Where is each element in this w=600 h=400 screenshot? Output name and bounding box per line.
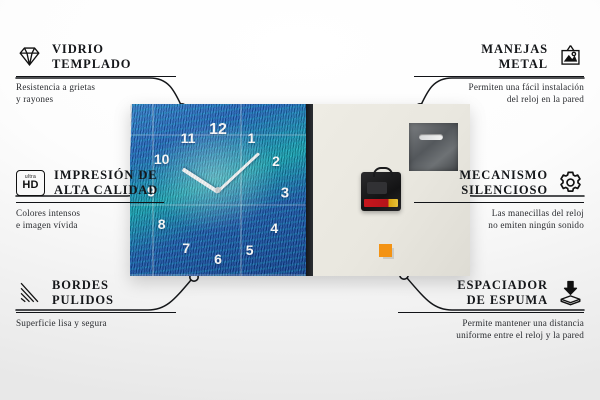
callout-mecanismo-silencioso: MECANISMO SILENCIOSO Las manecillas del … [414, 168, 584, 232]
callout-header: MANEJAS METAL [414, 42, 584, 72]
callout-header: VIDRIO TEMPLADO [16, 42, 176, 72]
clock-numeral-3: 3 [281, 186, 289, 201]
diamond-icon [16, 43, 43, 70]
callout-subtitle-line2: del reloj en la pared [414, 93, 584, 105]
callout-subtitle-line1: Permite mantener una distancia [398, 317, 584, 329]
polished-edge-icon [16, 279, 43, 306]
clock-mechanism [361, 172, 401, 211]
callout-subtitle-line1: Las manecillas del reloj [414, 207, 584, 219]
callout-title: MANEJAS METAL [481, 42, 548, 72]
second-hand [130, 104, 132, 162]
minute-hand [217, 152, 260, 192]
clock-numeral-1: 1 [248, 131, 256, 145]
foam-spacer-icon [557, 279, 584, 306]
callout-subtitle-line1: Permiten una fácil instalación [414, 81, 584, 93]
foam-spacer [379, 244, 392, 257]
callout-title: IMPRESIÓN DE ALTA CALIDAD [54, 168, 158, 198]
ultra-hd-icon: ultra HD [16, 170, 45, 196]
clock-numeral-12: 12 [209, 122, 227, 138]
callout-divider [16, 312, 176, 314]
callout-divider [414, 76, 584, 78]
callout-title: BORDES PULIDOS [52, 278, 114, 308]
ultra-hd-icon-big-text: HD [22, 180, 38, 191]
clock-numeral-11: 11 [181, 131, 196, 145]
callout-header: ESPACIADOR DE ESPUMA [398, 278, 584, 308]
clock-numeral-7: 7 [182, 241, 190, 255]
callout-subtitle-line1: Resistencia a grietas [16, 81, 176, 93]
clock-numeral-4: 4 [270, 221, 278, 235]
mechanism-hanger-loop [373, 167, 393, 177]
callout-subtitle-line1: Superficie lisa y segura [16, 317, 176, 329]
clock-numeral-10: 10 [154, 152, 170, 166]
callout-header: BORDES PULIDOS [16, 278, 176, 308]
callout-impresion-alta-calidad: ultra HD IMPRESIÓN DE ALTA CALIDAD Color… [16, 168, 164, 232]
clock-side-edge [306, 104, 313, 276]
hour-hand [182, 167, 219, 193]
callout-header: MECANISMO SILENCIOSO [414, 168, 584, 198]
hanger-slot [419, 134, 443, 140]
metal-hanger-plate [409, 123, 458, 171]
callout-bordes-pulidos: BORDES PULIDOS Superficie lisa y segura [16, 278, 176, 329]
mechanism-housing-detail [367, 182, 387, 194]
callout-divider [16, 76, 176, 78]
callout-subtitle-line2: no emiten ningún sonido [414, 219, 584, 231]
gear-icon [557, 169, 584, 196]
callout-divider [16, 202, 164, 204]
callout-subtitle-line2: uniforme entre el reloj y la pared [398, 329, 584, 341]
callout-divider [414, 202, 584, 204]
callout-espaciador-espuma: ESPACIADOR DE ESPUMA Permite mantener un… [398, 278, 584, 342]
callout-subtitle-line2: e imagen vívida [16, 219, 164, 231]
clock-numeral-2: 2 [272, 154, 280, 168]
callout-subtitle-line1: Colores intensos [16, 207, 164, 219]
clock-numeral-5: 5 [246, 243, 254, 257]
callout-vidrio-templado: VIDRIO TEMPLADO Resistencia a grietas y … [16, 42, 176, 106]
callout-title: ESPACIADOR DE ESPUMA [457, 278, 548, 308]
callout-divider [398, 312, 584, 314]
callout-manejas-metal: MANEJAS METAL Permiten una fácil instala… [414, 42, 584, 106]
callout-title: MECANISMO SILENCIOSO [459, 168, 548, 198]
callout-title: VIDRIO TEMPLADO [52, 42, 131, 72]
battery [364, 199, 398, 207]
hand-cap [215, 187, 221, 193]
framed-picture-icon [557, 43, 584, 70]
callout-subtitle-line2: y rayones [16, 93, 176, 105]
infographic-canvas: 12 1 2 3 4 5 6 7 8 9 10 11 [0, 0, 600, 400]
clock-numeral-6: 6 [214, 252, 222, 266]
callout-header: ultra HD IMPRESIÓN DE ALTA CALIDAD [16, 168, 164, 198]
